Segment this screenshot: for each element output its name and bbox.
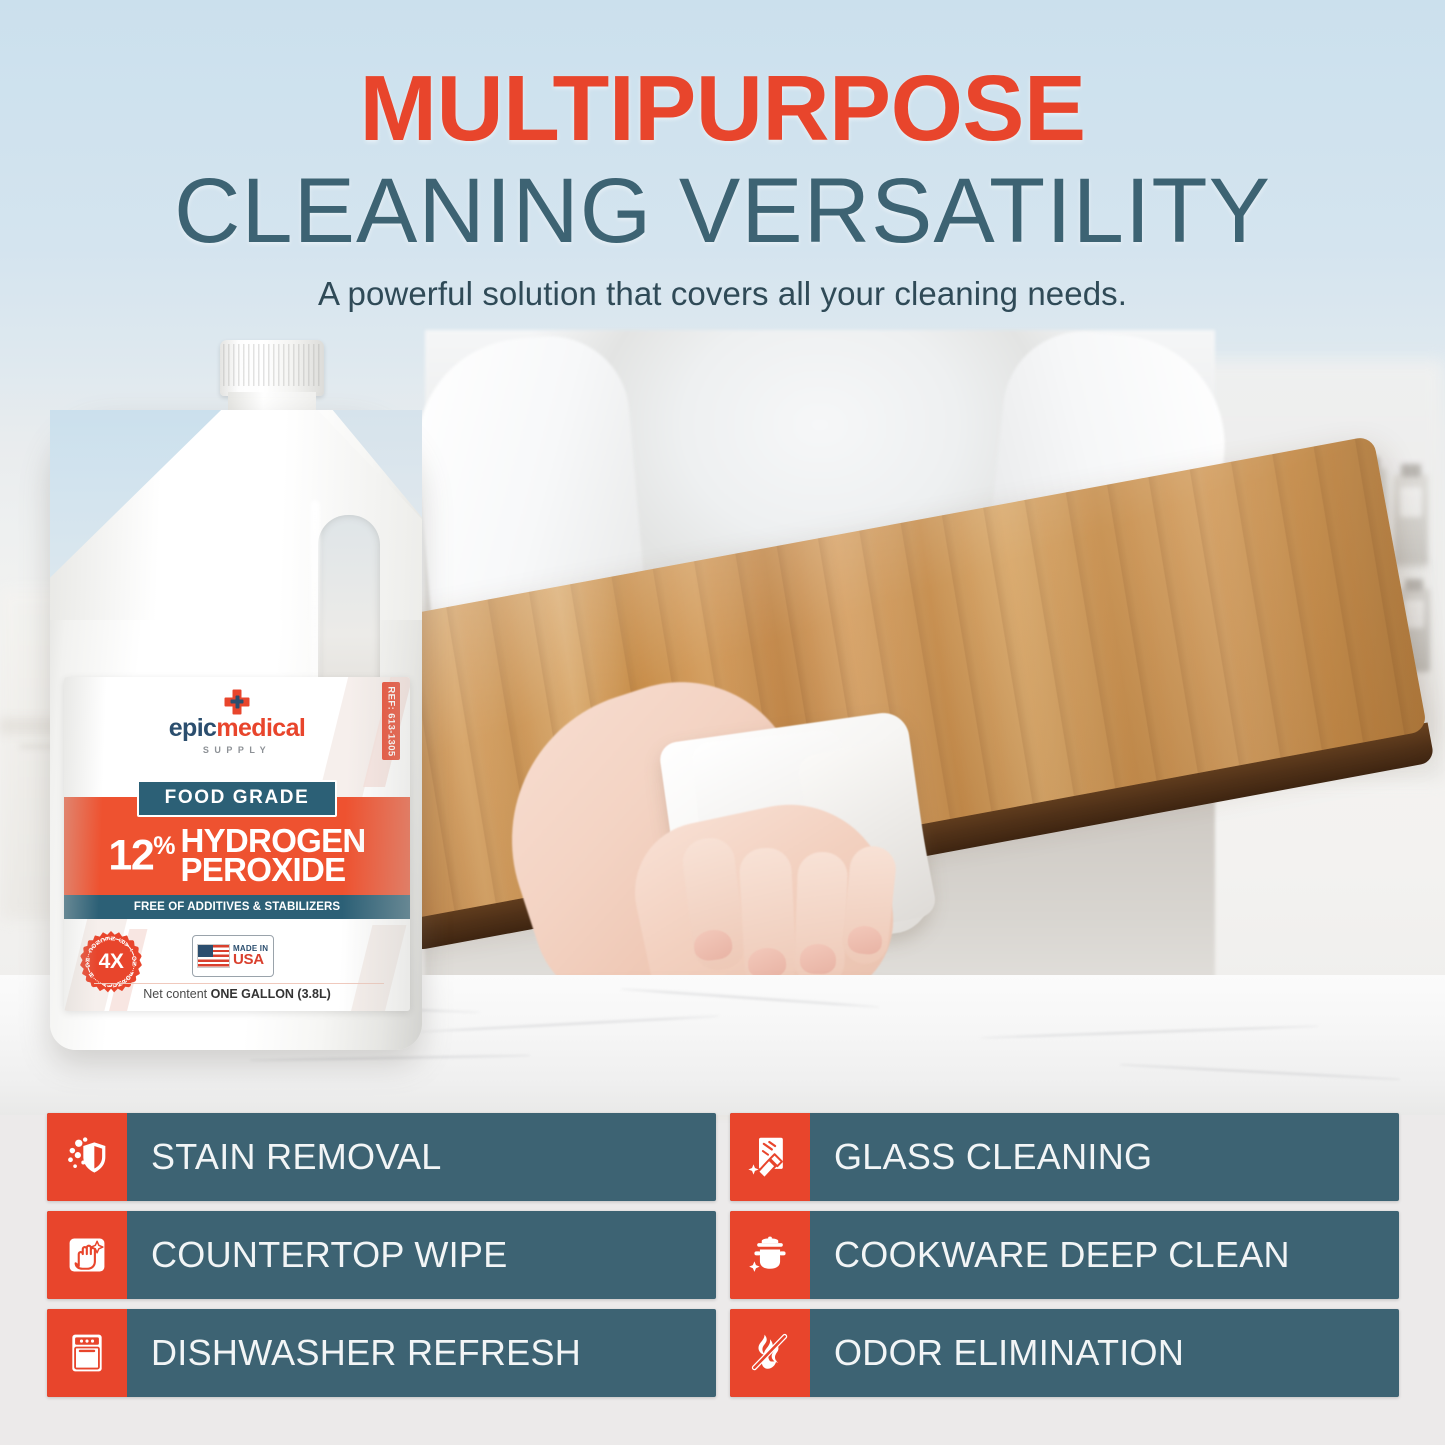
made-in-usa-text: MADE IN USA	[233, 945, 268, 967]
feature-bar-odor-elimination[interactable]: ODOR ELIMINATION	[730, 1309, 1399, 1397]
stain-shield-icon	[47, 1113, 127, 1201]
product-label: REF: 613-1305 epicmedical SUPPLY FOOD GR…	[64, 677, 410, 1011]
net-content-prefix: Net content	[143, 987, 210, 1001]
marble-vein	[1120, 1064, 1400, 1080]
headline-primary: MULTIPURPOSE	[0, 62, 1445, 155]
brand-name-part2: medical	[216, 714, 305, 742]
brand-lockup: epicmedical SUPPLY	[64, 689, 410, 755]
feature-bar-cookware-deep-clean[interactable]: COOKWARE DEEP CLEAN	[730, 1211, 1399, 1299]
chemical-line-2: PEROXIDE	[180, 855, 365, 884]
feature-bar-glass-cleaning[interactable]: GLASS CLEANING	[730, 1113, 1399, 1201]
usa-flag-icon	[197, 944, 230, 968]
additives-text: FREE OF ADDITIVES & STABILIZERS	[134, 901, 340, 913]
cap-ribs	[223, 344, 321, 386]
medical-cross-icon	[225, 689, 250, 714]
dishwasher-icon	[47, 1309, 127, 1397]
headline-secondary: CLEANING VERSATILITY	[0, 165, 1445, 259]
cross-inner	[231, 695, 244, 708]
badge-inner-ring: 4X	[87, 938, 135, 986]
spice-jar	[1394, 474, 1428, 564]
feature-bar-stain-removal[interactable]: STAIN REMOVAL	[47, 1113, 716, 1201]
feature-bar-grid: STAIN REMOVAL GLASS CLEANING	[47, 1113, 1399, 1397]
cooking-pot-icon	[730, 1211, 810, 1299]
feature-label: STAIN REMOVAL	[127, 1113, 442, 1201]
made-in-usa-badge: MADE IN USA	[192, 935, 274, 977]
product-claim: 12% HYDROGEN PEROXIDE	[64, 801, 410, 893]
marble-vein	[620, 988, 880, 1008]
no-odor-icon	[730, 1309, 810, 1397]
chemical-name: HYDROGEN PEROXIDE	[180, 826, 365, 884]
badge-multiplier: 4X	[99, 950, 124, 974]
concentration-number: 12	[108, 832, 153, 880]
brand-name-part1: epic	[169, 714, 217, 742]
fingernail	[799, 943, 836, 974]
marble-vein	[420, 1015, 720, 1033]
feature-bar-dishwasher-refresh[interactable]: DISHWASHER REFRESH	[47, 1309, 716, 1397]
squeegee-glass-icon	[730, 1113, 810, 1201]
concentration-value: 12%	[108, 836, 174, 874]
product-infographic: MULTIPURPOSE CLEANING VERSATILITY A powe…	[0, 0, 1445, 1445]
feature-label: DISHWASHER REFRESH	[127, 1309, 581, 1397]
net-content-value: ONE GALLON (3.8L)	[211, 987, 331, 1001]
brand-tagline: SUPPLY	[64, 745, 410, 755]
net-content: Net content ONE GALLON (3.8L)	[64, 987, 410, 1001]
feature-label: COOKWARE DEEP CLEAN	[810, 1211, 1290, 1299]
additives-strip: FREE OF ADDITIVES & STABILIZERS	[64, 895, 410, 919]
feature-label: GLASS CLEANING	[810, 1113, 1152, 1201]
headline-subtitle: A powerful solution that covers all your…	[0, 275, 1445, 313]
bottle-cap	[220, 340, 324, 396]
brand-name: epicmedical	[64, 716, 410, 741]
feature-label: ODOR ELIMINATION	[810, 1309, 1184, 1397]
header-block: MULTIPURPOSE CLEANING VERSATILITY A powe…	[0, 0, 1445, 313]
feature-label: COUNTERTOP WIPE	[127, 1211, 508, 1299]
percent-symbol: %	[153, 832, 174, 860]
wiping-hand-icon	[47, 1211, 127, 1299]
feature-bar-countertop-wipe[interactable]: COUNTERTOP WIPE	[47, 1211, 716, 1299]
label-divider	[94, 983, 384, 984]
marble-vein	[980, 1025, 1320, 1039]
product-bottle: REF: 613-1305 epicmedical SUPPLY FOOD GR…	[42, 340, 432, 1070]
usa-line: USA	[233, 953, 268, 967]
